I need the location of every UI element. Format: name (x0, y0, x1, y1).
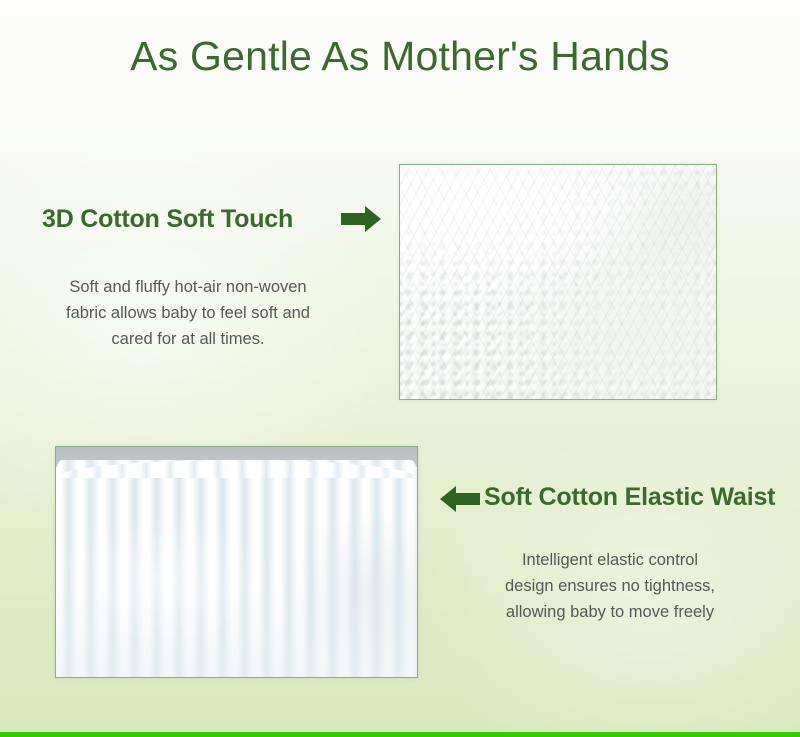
arrow-left-icon (438, 483, 482, 520)
feature-body-3d-cotton-soft-touch: Soft and fluffy hot-air non-woven fabric… (38, 274, 338, 352)
feature-heading-3d-cotton-soft-touch: 3D Cotton Soft Touch (42, 205, 293, 234)
fabric-texture-ruched-waistband (56, 460, 417, 677)
feature-photo-elastic-waistband (55, 446, 418, 678)
feature-body-soft-cotton-elastic-waist: Intelligent elastic control design ensur… (455, 547, 765, 625)
bottom-accent-bar (0, 732, 800, 737)
feature-heading-soft-cotton-elastic-waist: Soft Cotton Elastic Waist (484, 483, 775, 512)
feature-body-line: allowing baby to move freely (455, 599, 765, 625)
feature-body-line: Soft and fluffy hot-air non-woven (38, 274, 338, 300)
feature-photo-soft-touch-fabric (399, 164, 717, 400)
feature-body-line: design ensures no tightness, (455, 573, 765, 599)
page-title: As Gentle As Mother's Hands (0, 33, 800, 80)
feature-body-line: fabric allows baby to feel soft and (38, 300, 338, 326)
feature-body-line: cared for at all times. (38, 326, 338, 352)
fabric-texture-quilted (400, 165, 716, 399)
feature-body-line: Intelligent elastic control (455, 547, 765, 573)
arrow-right-icon (339, 203, 383, 240)
